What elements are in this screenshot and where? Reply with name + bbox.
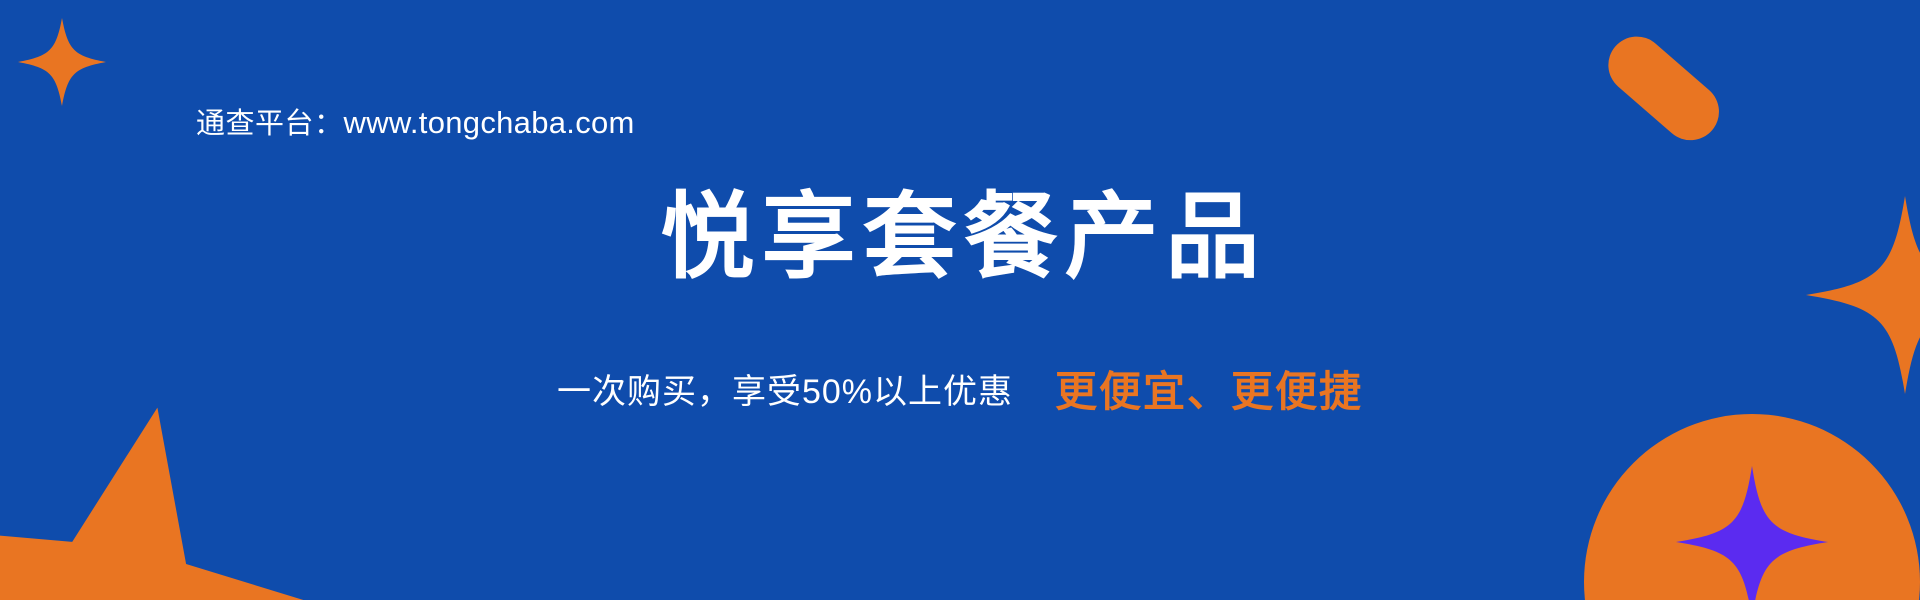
- platform-url-line: 通查平台：www.tongchaba.com: [196, 104, 635, 143]
- subline-accent-text: 更便宜、更便捷: [1055, 368, 1363, 415]
- content-layer: 通查平台：www.tongchaba.com 悦享套餐产品 一次购买，享受50%…: [0, 0, 1920, 600]
- subline-plain-text: 一次购买，享受50%以上优惠: [557, 373, 1013, 411]
- platform-label: 通查平台：: [196, 108, 344, 140]
- page-title: 悦享套餐产品: [653, 186, 1266, 288]
- subline-block: 一次购买，享受50%以上优惠更便宜、更便捷: [0, 358, 1920, 419]
- platform-url[interactable]: www.tongchaba.com: [344, 105, 635, 140]
- promo-banner: 通查平台：www.tongchaba.com 悦享套餐产品 一次购买，享受50%…: [0, 0, 1920, 600]
- headline-block: 悦享套餐产品: [0, 186, 1920, 288]
